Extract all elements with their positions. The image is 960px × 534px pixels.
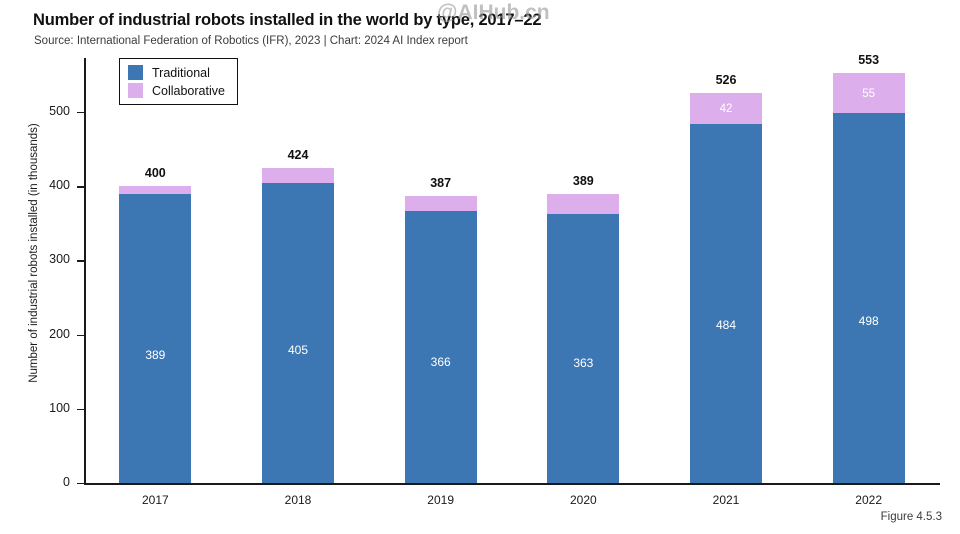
- bar-stack[interactable]: 363389: [547, 194, 619, 483]
- legend-swatch-traditional: [128, 65, 143, 80]
- bar-stack[interactable]: 389400: [119, 186, 191, 483]
- x-axis-tick-label: 2019: [381, 493, 501, 507]
- x-axis-tick-label: 2022: [809, 493, 929, 507]
- legend-item-label: Collaborative: [152, 84, 225, 98]
- bar-segment-traditional[interactable]: [119, 194, 191, 483]
- bar-stack[interactable]: 48442526: [690, 93, 762, 483]
- bar-stack[interactable]: 49855553: [833, 73, 905, 483]
- y-axis-tick-mark: [77, 186, 84, 187]
- y-axis-tick-mark: [77, 112, 84, 113]
- x-axis-tick-label: 2021: [666, 493, 786, 507]
- bar-stack[interactable]: 366387: [405, 196, 477, 483]
- x-axis-tick-label: 2018: [238, 493, 358, 507]
- x-axis-tick-label: 2017: [95, 493, 215, 507]
- bar-segment-collaborative[interactable]: [119, 186, 191, 194]
- legend-item[interactable]: Traditional: [128, 65, 225, 80]
- bar-total-label: 387: [405, 176, 477, 190]
- chart-source-note: Source: International Federation of Robo…: [34, 35, 468, 47]
- bar-segment-collaborative[interactable]: [690, 93, 762, 124]
- y-axis-tick-mark: [77, 409, 84, 410]
- y-axis-title: Number of industrial robots installed (i…: [28, 53, 40, 453]
- chart-legend: TraditionalCollaborative: [119, 58, 238, 105]
- bar-total-label: 424: [262, 148, 334, 162]
- bar-segment-collaborative[interactable]: [833, 73, 905, 114]
- bar-total-label: 400: [119, 166, 191, 180]
- legend-item-label: Traditional: [152, 66, 210, 80]
- y-axis-tick-mark: [77, 260, 84, 261]
- x-axis-spine: [84, 483, 940, 485]
- bar-segment-collaborative[interactable]: [262, 168, 334, 182]
- bar-total-label: 526: [690, 73, 762, 87]
- bar-stack[interactable]: 405424: [262, 168, 334, 483]
- figure-caption: Figure 4.5.3: [881, 511, 942, 523]
- bar-segment-traditional[interactable]: [690, 124, 762, 483]
- y-axis-tick-mark: [77, 335, 84, 336]
- bar-segment-collaborative[interactable]: [547, 194, 619, 213]
- bar-segment-traditional[interactable]: [833, 113, 905, 483]
- chart-title: Number of industrial robots installed in…: [33, 11, 541, 30]
- y-axis-tick-label: 0: [0, 475, 70, 489]
- x-axis-tick-label: 2020: [523, 493, 643, 507]
- bar-segment-traditional[interactable]: [262, 183, 334, 484]
- plot-area: 3894004054243663873633894844252649855553: [84, 58, 940, 483]
- bar-segment-traditional[interactable]: [405, 211, 477, 483]
- y-axis-tick-mark: [77, 483, 84, 484]
- bar-total-label: 553: [833, 53, 905, 67]
- legend-swatch-collaborative: [128, 83, 143, 98]
- bar-total-label: 389: [547, 174, 619, 188]
- chart-figure: Number of industrial robots installed in…: [0, 0, 960, 534]
- legend-item[interactable]: Collaborative: [128, 83, 225, 98]
- bar-segment-traditional[interactable]: [547, 214, 619, 483]
- bar-segment-collaborative[interactable]: [405, 196, 477, 212]
